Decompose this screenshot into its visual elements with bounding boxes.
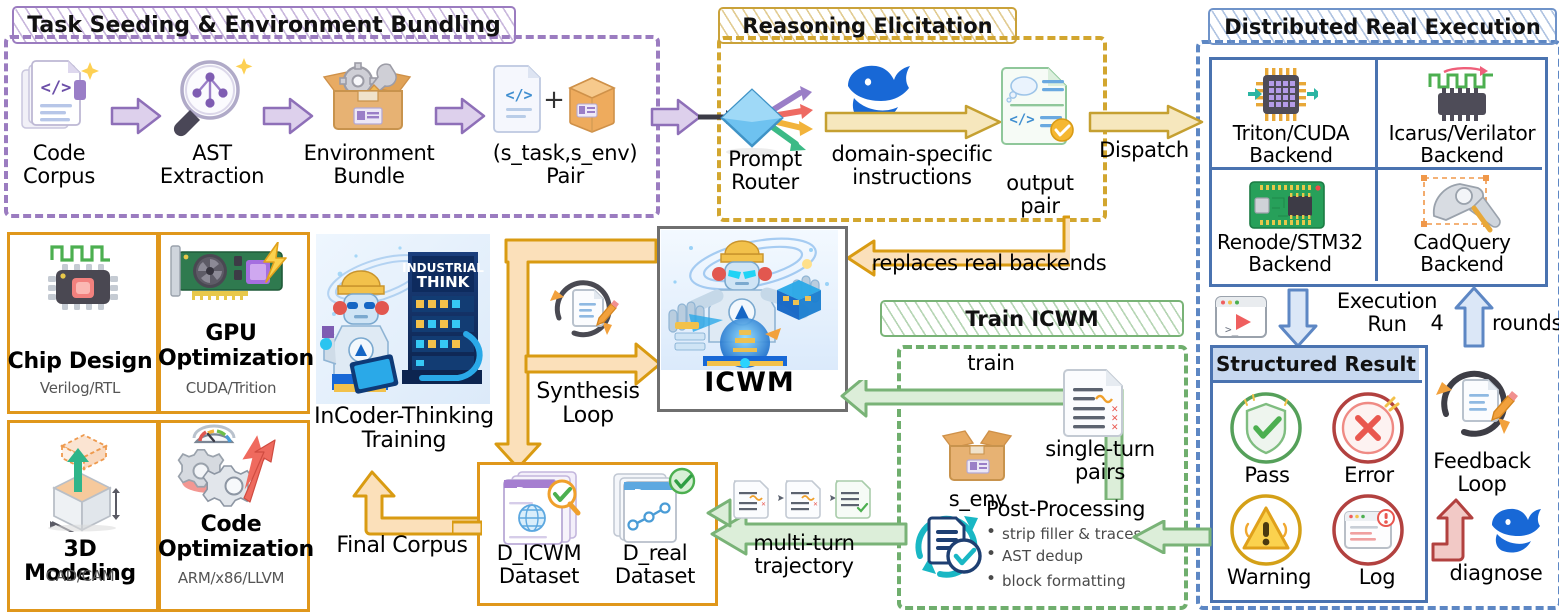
robot-industrial-think-icon: INDUSTRIAL THINK <box>316 234 490 404</box>
domain-card-0-subtitle-text: Verilog/RTL <box>7 380 153 396</box>
trajectory-docs-icon: ✕ ✕ <box>730 478 872 520</box>
train-text: train <box>936 352 1046 375</box>
backend-3-line1: CadQuery <box>1380 232 1544 254</box>
domain-card-0-subtitle: Verilog/RTL <box>7 380 153 396</box>
synthesis-loop-label: Synthesis Loop <box>518 380 658 428</box>
cpu-chip-icon <box>1248 66 1318 124</box>
svg-text:</>: </> <box>1009 112 1034 128</box>
svg-text:</>: </> <box>41 78 72 98</box>
single-turn-line2: pairs <box>1030 461 1170 484</box>
structured-result-header-rule <box>1210 380 1422 383</box>
domain-instructions-line2: instructions <box>824 166 1000 189</box>
arrow-dispatch <box>1088 104 1204 140</box>
structured-result-header: Structured Result <box>1213 348 1419 380</box>
shield-check-icon <box>1228 390 1304 466</box>
banner-reasoning: Reasoning Elicitation <box>718 7 1017 44</box>
final-corpus-text: Final Corpus <box>312 534 492 558</box>
bullet-dot-icon: • <box>986 524 996 542</box>
annotated-doc-icon: ✕ ✕ ✕ <box>1062 366 1128 438</box>
svg-text:✕: ✕ <box>761 501 766 508</box>
refresh-document-icon-synthesis <box>546 270 622 342</box>
thinking-code-file-icon: </> <box>1000 64 1078 146</box>
domain-card-1-title: GPU Optimization <box>158 322 304 371</box>
backend-2-line1: Renode/STM32 <box>1210 232 1370 254</box>
domain-card-3-title2-text: Optimization <box>158 538 304 563</box>
replaces-text: replaces real backends <box>866 252 1112 275</box>
backend-0-line1: Triton/CUDA <box>1212 123 1370 145</box>
chip-waveform-icon <box>42 240 120 320</box>
prompt-router-line1: Prompt <box>710 148 820 171</box>
seeding-step-0-line1: Code <box>0 142 118 165</box>
backend-0-line2: Backend <box>1212 145 1370 167</box>
open-box-icon <box>940 424 1014 486</box>
arrow-result-to-postprocessing <box>1130 520 1212 554</box>
backend-2-label: Renode/STM32 Backend <box>1210 232 1370 275</box>
result-2-label: Warning <box>1216 566 1322 589</box>
post-processing-bullet-2: block formatting <box>1002 571 1126 593</box>
output-pair-label: output pair <box>988 172 1092 217</box>
domain-instructions-line1: domain-specific <box>824 143 1000 166</box>
arrow-seed-2 <box>262 97 316 135</box>
single-turn-line1: single-turn <box>1030 438 1170 461</box>
domain-card-3-title-text: Code <box>158 513 304 538</box>
terminal-run-icon: >_ <box>1214 295 1268 339</box>
svg-text:ICWM: ICWM <box>525 489 547 497</box>
result-1-text: Error <box>1322 464 1416 487</box>
bullet-dot-icon: • <box>986 571 996 589</box>
incoder-training-label: InCoder-Thinking Training <box>290 405 518 453</box>
dataset-0-label: D_ICWM Dataset <box>476 542 602 587</box>
backend-1-line1: Icarus/Verilator <box>1376 123 1548 145</box>
dispatch-text: Dispatch <box>1092 139 1196 162</box>
gears-speed-icon <box>172 424 290 518</box>
result-1-label: Error <box>1322 464 1416 487</box>
replaces-real-backends-label: replaces real backends <box>866 252 1112 275</box>
multi-turn-line1: multi-turn <box>726 532 882 555</box>
banner-task-seeding-label: Task Seeding & Environment Bundling <box>27 13 501 38</box>
domain-instructions-label: domain-specific instructions <box>824 143 1000 188</box>
post-processing-bullet-1: AST dedup <box>1002 546 1083 568</box>
feedback-loop-line1: Feedback <box>1428 450 1536 473</box>
code-documents-icon: </> <box>16 58 102 138</box>
arrow-seed-1 <box>110 97 164 135</box>
result-3-text: Log <box>1332 566 1422 589</box>
arrow-diagnose <box>1430 498 1486 570</box>
feedback-loop-label: Feedback Loop <box>1428 450 1536 495</box>
final-corpus-label: Final Corpus <box>312 534 492 558</box>
execution-run-line1: Execution <box>1312 290 1462 313</box>
dataset-1-label: D_real Dataset <box>592 542 718 587</box>
backend-0-label: Triton/CUDA Backend <box>1212 123 1370 166</box>
warning-triangle-icon <box>1228 492 1304 568</box>
backend-1-label: Icarus/Verilator Backend <box>1376 123 1548 166</box>
single-turn-pairs-label: single-turn pairs <box>1030 438 1170 483</box>
result-0-label: Pass <box>1222 464 1312 487</box>
svg-text:✕: ✕ <box>1111 423 1119 433</box>
domain-card-1-title2-text: Optimization <box>158 347 304 372</box>
svg-text:✕: ✕ <box>813 501 818 508</box>
domain-card-1-title-text: GPU <box>158 322 304 347</box>
seeding-step-2-label: Environment Bundle <box>296 142 442 187</box>
open-box-tools-icon <box>318 55 418 140</box>
domain-card-3-subtitle: ARM/x86/LLVM <box>158 570 304 586</box>
diagnose-text: diagnose <box>1434 562 1558 585</box>
icwm-text: ICWM <box>657 368 842 397</box>
seeding-step-0-line2: Corpus <box>0 165 118 188</box>
robot-icwm-icon <box>661 230 838 370</box>
backend-grid-hline <box>1209 167 1542 170</box>
incoder-training-line1: InCoder-Thinking <box>290 405 518 429</box>
banner-distributed-execution: Distributed Real Execution <box>1208 8 1557 45</box>
feedback-loop-line2: Loop <box>1428 473 1536 496</box>
post-processing-title-text: Post-Processing <box>986 498 1172 521</box>
dispatch-label: Dispatch <box>1092 139 1196 162</box>
svg-text:</>: </> <box>505 86 532 104</box>
banner-execution-label: Distributed Real Execution <box>1224 15 1541 39</box>
gpu-card-icon <box>168 242 296 308</box>
output-pair-text: output pair <box>988 172 1092 217</box>
dataset-real-icon: D real <box>608 466 700 550</box>
magnifier-ast-icon <box>168 56 254 138</box>
result-0-text: Pass <box>1222 464 1312 487</box>
domain-card-1-subtitle-text: CUDA/Trition <box>158 380 304 396</box>
post-processing-bullet-0: strip filler & traces <box>1002 524 1141 546</box>
dataset-1-line2: Dataset <box>592 565 718 588</box>
dataset-0-line1: D_ICWM <box>476 542 602 565</box>
synthesis-loop-line2: Loop <box>518 404 658 428</box>
seeding-step-0-label: Code Corpus <box>0 142 118 187</box>
svg-text:real: real <box>643 491 658 499</box>
banner-train-label: Train ICWM <box>965 307 1098 331</box>
cube-extrude-icon <box>32 428 132 532</box>
backend-3-label: CadQuery Backend <box>1380 232 1544 275</box>
result-3-label: Log <box>1332 566 1422 589</box>
circle-x-icon <box>1330 390 1406 466</box>
postprocess-cycle-icon <box>906 498 990 582</box>
rounds-count-text: 4 <box>1420 312 1454 335</box>
multi-turn-line2: trajectory <box>726 555 882 578</box>
svg-text:+: + <box>543 85 565 115</box>
dataset-icwm-icon: D ICWM <box>496 468 588 552</box>
backend-3-line2: Backend <box>1380 254 1544 276</box>
dev-board-icon <box>1244 176 1330 234</box>
icwm-label: ICWM <box>657 368 842 397</box>
log-window-icon <box>1330 492 1406 568</box>
diagnose-label: diagnose <box>1434 562 1558 585</box>
waveform-chip-icon <box>1422 63 1502 123</box>
structured-result-header-label: Structured Result <box>1216 352 1416 376</box>
svg-text:D: D <box>634 487 643 500</box>
domain-card-1-subtitle: CUDA/Trition <box>158 380 304 396</box>
refresh-document-icon <box>1430 356 1522 442</box>
backend-2-line2: Backend <box>1210 254 1370 276</box>
arrow-datasets-inflow <box>706 496 732 530</box>
train-label: train <box>936 352 1046 375</box>
rounds-suffix-text: rounds <box>1492 312 1559 335</box>
seeding-step-3-line1: (s_task,s_env) <box>470 142 660 165</box>
prompt-router-label: Prompt Router <box>710 148 820 193</box>
seeding-step-1-line2: Extraction <box>148 165 276 188</box>
banner-train-icwm: Train ICWM <box>880 300 1184 337</box>
rounds-count-label: 4 <box>1420 312 1454 335</box>
svg-text:>_: >_ <box>1225 323 1239 336</box>
seeding-step-3-line2: Pair <box>470 165 660 188</box>
arrow-4-rounds <box>1452 286 1496 348</box>
arrow-domain-instructions <box>824 104 1004 140</box>
domain-card-3-subtitle-text: ARM/x86/LLVM <box>158 570 304 586</box>
synthesis-loop-line1: Synthesis <box>518 380 658 404</box>
domain-card-3-title: Code Optimization <box>158 513 304 562</box>
code-file-plus-box-icon: </> + <box>492 58 632 140</box>
dataset-0-line2: Dataset <box>476 565 602 588</box>
domain-card-2-subtitle-text: CAD/CAM <box>7 568 153 584</box>
svg-text:THINK: THINK <box>417 273 471 291</box>
connector-left-to-datasets <box>452 520 482 536</box>
multi-turn-trajectory-label: multi-turn trajectory <box>726 532 882 577</box>
seeding-step-1-label: AST Extraction <box>148 142 276 187</box>
bullet-dot-icon: • <box>986 546 996 564</box>
domain-card-0-title: Chip Design <box>7 350 153 374</box>
prompt-router-line2: Router <box>710 171 820 194</box>
banner-task-seeding: Task Seeding & Environment Bundling <box>12 6 516 44</box>
result-2-text: Warning <box>1216 566 1322 589</box>
svg-text:D: D <box>516 485 525 498</box>
backend-1-line2: Backend <box>1376 145 1548 167</box>
post-processing-title: Post-Processing <box>986 498 1172 521</box>
seeding-step-2-line1: Environment <box>296 142 442 165</box>
whale-diagnose-icon <box>1486 506 1550 558</box>
arrow-seed-3 <box>434 97 488 135</box>
domain-card-0-title-text: Chip Design <box>7 350 153 374</box>
banner-reasoning-label: Reasoning Elicitation <box>742 14 992 38</box>
dataset-1-line1: D_real <box>592 542 718 565</box>
domain-card-2-subtitle: CAD/CAM <box>7 568 153 584</box>
incoder-training-line2: Training <box>290 429 518 453</box>
seeding-step-2-line2: Bundle <box>296 165 442 188</box>
cad-part-icon <box>1418 174 1504 236</box>
seeding-step-3-label: (s_task,s_env) Pair <box>470 142 660 187</box>
rounds-suffix-label: rounds <box>1492 312 1559 335</box>
seeding-step-1-line1: AST <box>148 142 276 165</box>
